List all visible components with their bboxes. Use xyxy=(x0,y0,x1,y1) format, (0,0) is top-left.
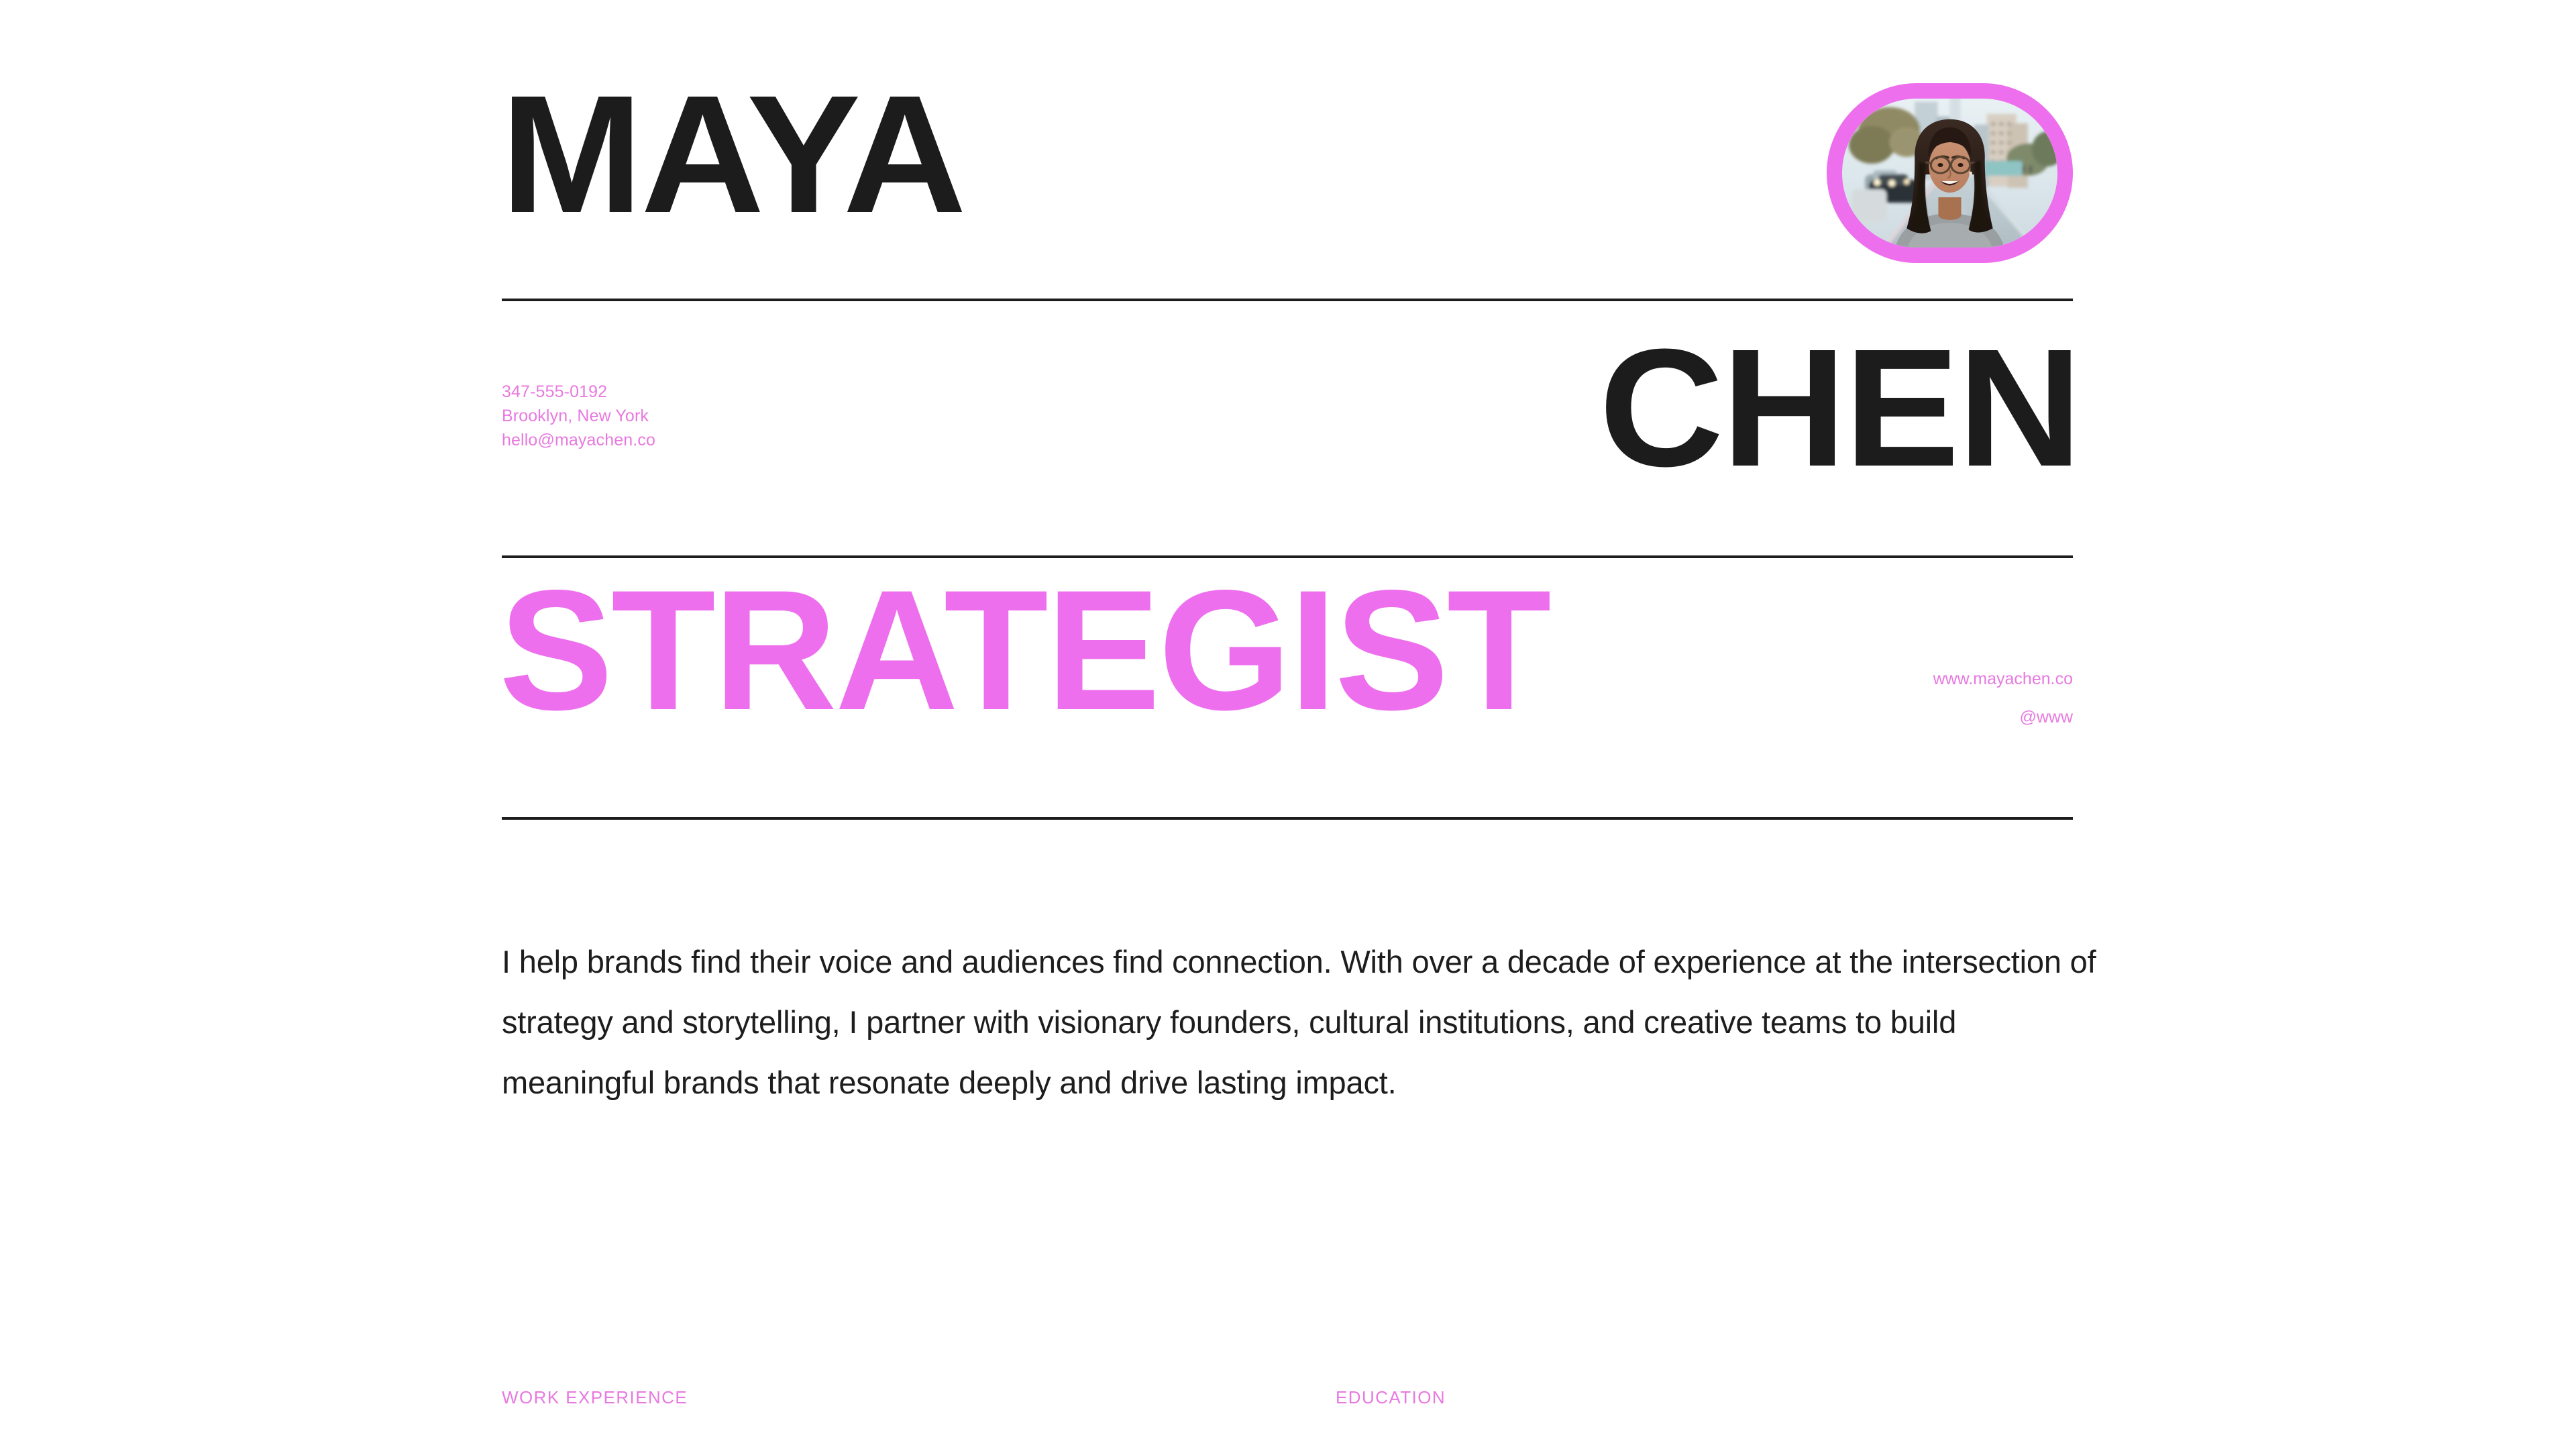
contact-email[interactable]: hello@mayachen.co xyxy=(502,428,655,452)
section-label-work-experience: WORK EXPERIENCE xyxy=(502,1387,688,1408)
last-name-heading: CHEN xyxy=(1599,335,2080,480)
social-handle[interactable]: @www xyxy=(1933,698,2073,737)
first-name-heading: MAYA xyxy=(500,82,965,226)
avatar-photo xyxy=(1842,99,2057,248)
contact-location: Brooklyn, New York xyxy=(502,404,655,428)
contact-phone[interactable]: 347-555-0192 xyxy=(502,380,655,404)
links-block: www.mayachen.co @www xyxy=(1933,660,2073,737)
summary-paragraph: I help brands find their voice and audie… xyxy=(502,932,2112,1114)
section-label-education: EDUCATION xyxy=(1336,1387,1446,1408)
website-link[interactable]: www.mayachen.co xyxy=(1933,660,2073,698)
divider-bottom xyxy=(502,817,2073,820)
avatar xyxy=(1827,83,2073,263)
resume-page: MAYA xyxy=(0,0,2576,1449)
contact-block: 347-555-0192 Brooklyn, New York hello@ma… xyxy=(502,380,655,452)
divider-top xyxy=(502,299,2073,301)
role-title: STRATEGIST xyxy=(499,577,1550,724)
